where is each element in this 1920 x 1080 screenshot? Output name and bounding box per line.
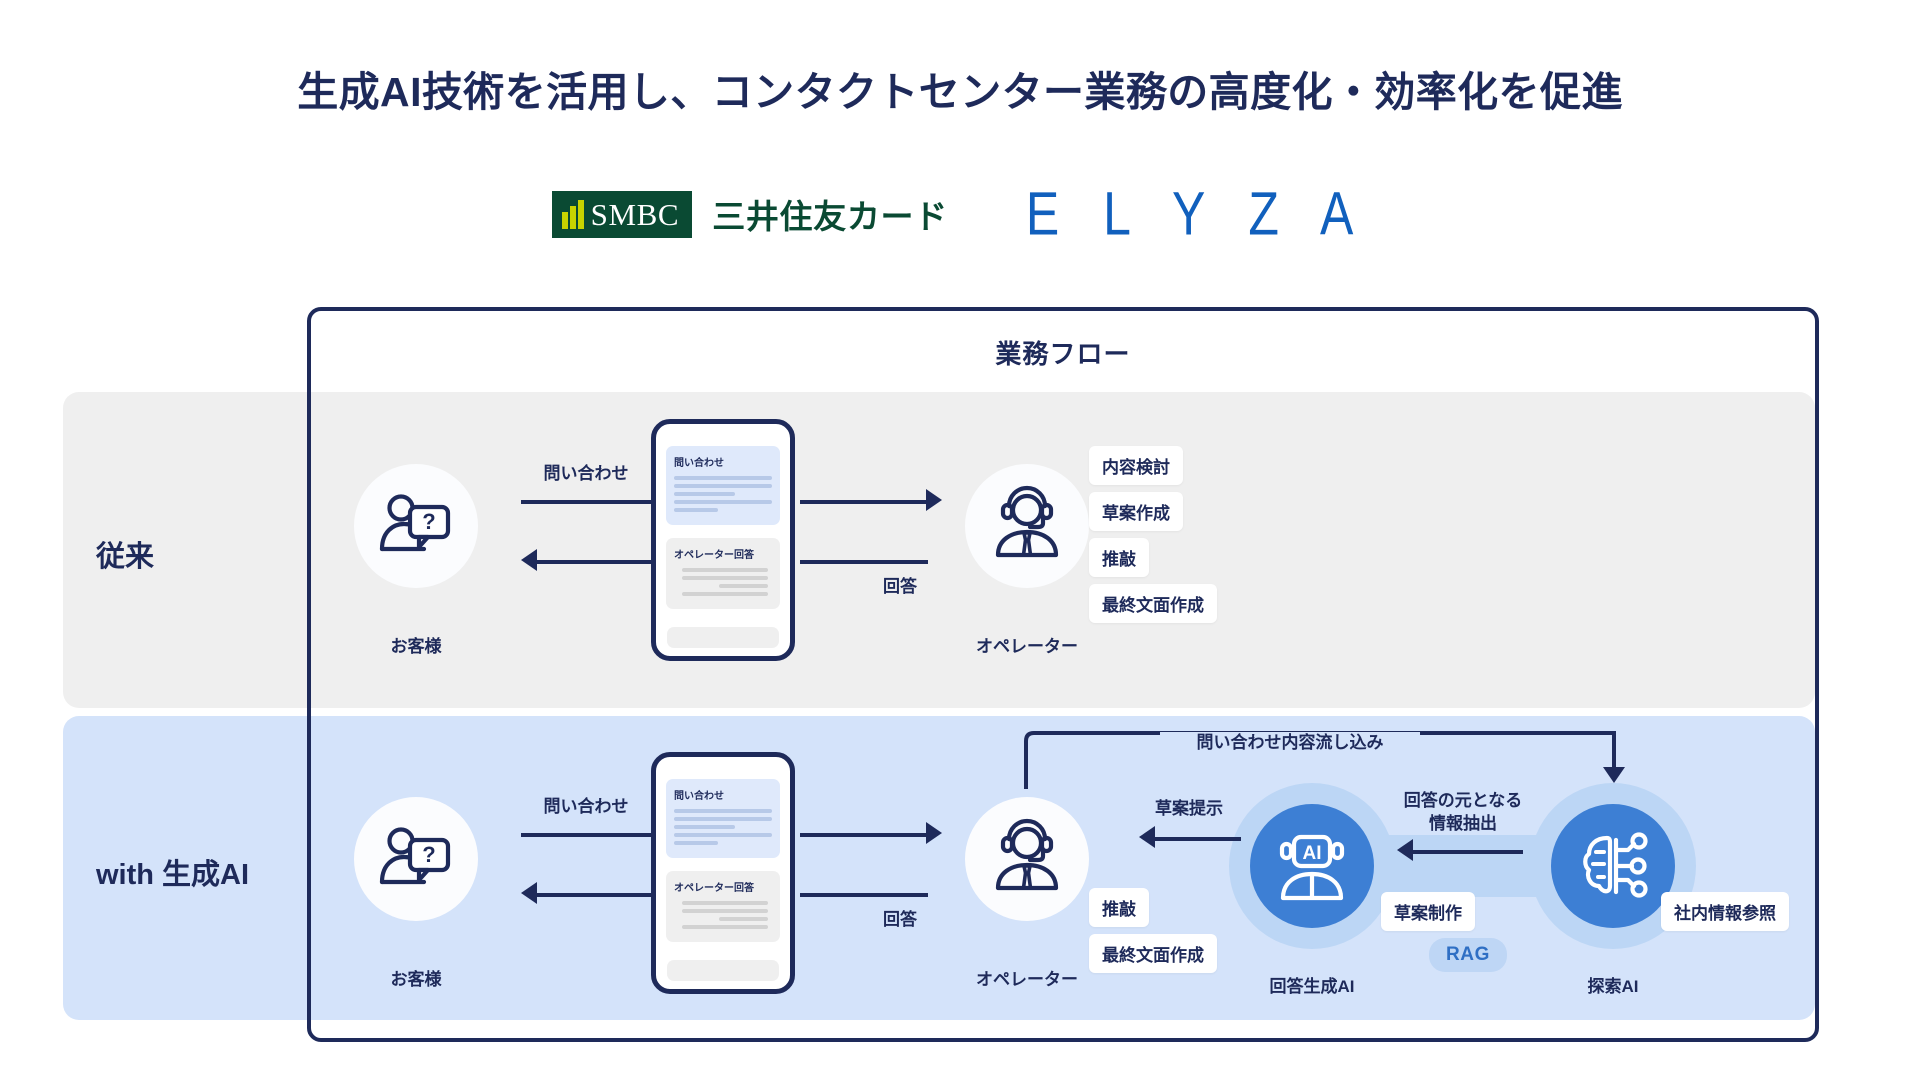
svg-text:?: ? bbox=[422, 509, 435, 534]
gen-ai-avatar: AI bbox=[1250, 804, 1374, 928]
arrowhead-extract bbox=[1397, 839, 1413, 861]
customer-avatar-legacy: ? bbox=[354, 464, 478, 588]
arrow-line-reply-legacy-right bbox=[800, 560, 928, 564]
elyza-logo: E L Y Z A bbox=[1026, 179, 1369, 250]
arrowhead-reply-legacy bbox=[521, 549, 537, 571]
arrowhead-reply-ai bbox=[521, 882, 537, 904]
phone-inquiry-bubble-ai: 問い合わせ bbox=[666, 779, 780, 858]
customer-icon: ? bbox=[379, 493, 453, 559]
search-ai-avatar bbox=[1551, 804, 1675, 928]
extract-label: 回答の元となる 情報抽出 bbox=[1388, 790, 1538, 836]
phone-mockup-ai: 問い合わせ オペレーター回答 bbox=[651, 752, 795, 994]
search-ai-chip: 社内情報参照 bbox=[1661, 892, 1789, 931]
task-chip-legacy-1: 草案作成 bbox=[1089, 492, 1183, 531]
svg-text:?: ? bbox=[422, 842, 435, 867]
arrowhead-feed bbox=[1603, 767, 1625, 783]
phone-home-indicator bbox=[667, 960, 779, 981]
arrow-line-inquiry-ai-left bbox=[521, 833, 651, 837]
phone-home-indicator bbox=[667, 627, 779, 648]
operator-avatar-legacy bbox=[965, 464, 1089, 588]
page-title: 生成AI技術を活用し、コンタクトセンター業務の高度化・効率化を促進 bbox=[0, 58, 1920, 118]
phone-answer-bubble-legacy: オペレーター回答 bbox=[666, 538, 780, 609]
phone-mockup-legacy: 問い合わせ オペレーター回答 bbox=[651, 419, 795, 661]
rag-badge: RAG bbox=[1429, 938, 1507, 972]
row-label-with-ai: with 生成AI bbox=[96, 851, 249, 893]
smbc-japanese-name: 三井住友カード bbox=[712, 190, 948, 238]
phone-answer-bubble-ai: オペレーター回答 bbox=[666, 871, 780, 942]
slide-root: 生成AI技術を活用し、コンタクトセンター業務の高度化・効率化を促進 SMBC 三… bbox=[0, 0, 1920, 1080]
arrow-line-reply-ai-right bbox=[800, 893, 928, 897]
operator-icon bbox=[991, 826, 1063, 892]
arrow-line-draft bbox=[1155, 837, 1241, 841]
gen-ai-chip: 草案制作 bbox=[1381, 892, 1475, 931]
phone-notch bbox=[680, 757, 766, 766]
task-chip-legacy-3: 最終文面作成 bbox=[1089, 584, 1217, 623]
reply-label-legacy: 回答 bbox=[860, 576, 940, 599]
customer-avatar-ai: ? bbox=[354, 797, 478, 921]
logo-row: SMBC 三井住友カード E L Y Z A bbox=[0, 185, 1920, 243]
arrow-line-reply-ai-left bbox=[537, 893, 651, 897]
draft-label: 草案提示 bbox=[1129, 798, 1249, 821]
arrow-line-reply-legacy-left bbox=[537, 560, 651, 564]
task-chip-legacy-2: 推敲 bbox=[1089, 538, 1149, 577]
operator-caption-legacy: オペレーター bbox=[955, 632, 1099, 657]
phone-answer-title-legacy: オペレーター回答 bbox=[674, 546, 772, 561]
operator-icon bbox=[991, 493, 1063, 559]
search-ai-caption: 探索AI bbox=[1541, 972, 1685, 997]
arrow-line-inquiry-ai-right bbox=[800, 833, 928, 837]
operator-caption-ai: オペレーター bbox=[955, 965, 1099, 990]
phone-inquiry-title-legacy: 問い合わせ bbox=[674, 454, 772, 469]
gen-ai-caption: 回答生成AI bbox=[1240, 972, 1384, 997]
arrow-line-inquiry-legacy-left bbox=[521, 500, 651, 504]
feed-label: 問い合わせ内容流し込み bbox=[1160, 732, 1420, 755]
flow-frame-title: 業務フロー bbox=[307, 334, 1819, 371]
operator-avatar-ai bbox=[965, 797, 1089, 921]
arrowhead-inquiry-ai bbox=[926, 822, 942, 844]
task-chip-ai-1: 最終文面作成 bbox=[1089, 934, 1217, 973]
svg-text:AI: AI bbox=[1303, 843, 1322, 864]
phone-inquiry-bubble-legacy: 問い合わせ bbox=[666, 446, 780, 525]
customer-caption-legacy: お客様 bbox=[354, 632, 478, 657]
brain-circuit-icon bbox=[1576, 830, 1650, 902]
smbc-logo-mark: SMBC bbox=[552, 191, 693, 238]
arrow-line-extract bbox=[1413, 850, 1523, 854]
row-label-legacy: 従来 bbox=[96, 533, 154, 575]
phone-notch bbox=[680, 424, 766, 433]
reply-label-ai: 回答 bbox=[860, 909, 940, 932]
customer-caption-ai: お客様 bbox=[354, 965, 478, 990]
smbc-wordmark: SMBC bbox=[591, 199, 680, 230]
phone-inquiry-title-ai: 問い合わせ bbox=[674, 787, 772, 802]
robot-ai-icon: AI bbox=[1274, 830, 1350, 902]
arrowhead-inquiry-legacy bbox=[926, 489, 942, 511]
arrowhead-draft bbox=[1139, 826, 1155, 848]
smbc-bars-icon bbox=[562, 200, 584, 229]
inquiry-label-ai: 問い合わせ bbox=[521, 796, 651, 819]
task-chip-legacy-0: 内容検討 bbox=[1089, 446, 1183, 485]
customer-icon: ? bbox=[379, 826, 453, 892]
inquiry-label-legacy: 問い合わせ bbox=[521, 463, 651, 486]
smbc-logo: SMBC 三井住友カード bbox=[552, 190, 948, 238]
task-chip-ai-0: 推敲 bbox=[1089, 888, 1149, 927]
phone-answer-title-ai: オペレーター回答 bbox=[674, 879, 772, 894]
arrow-line-inquiry-legacy-right bbox=[800, 500, 928, 504]
